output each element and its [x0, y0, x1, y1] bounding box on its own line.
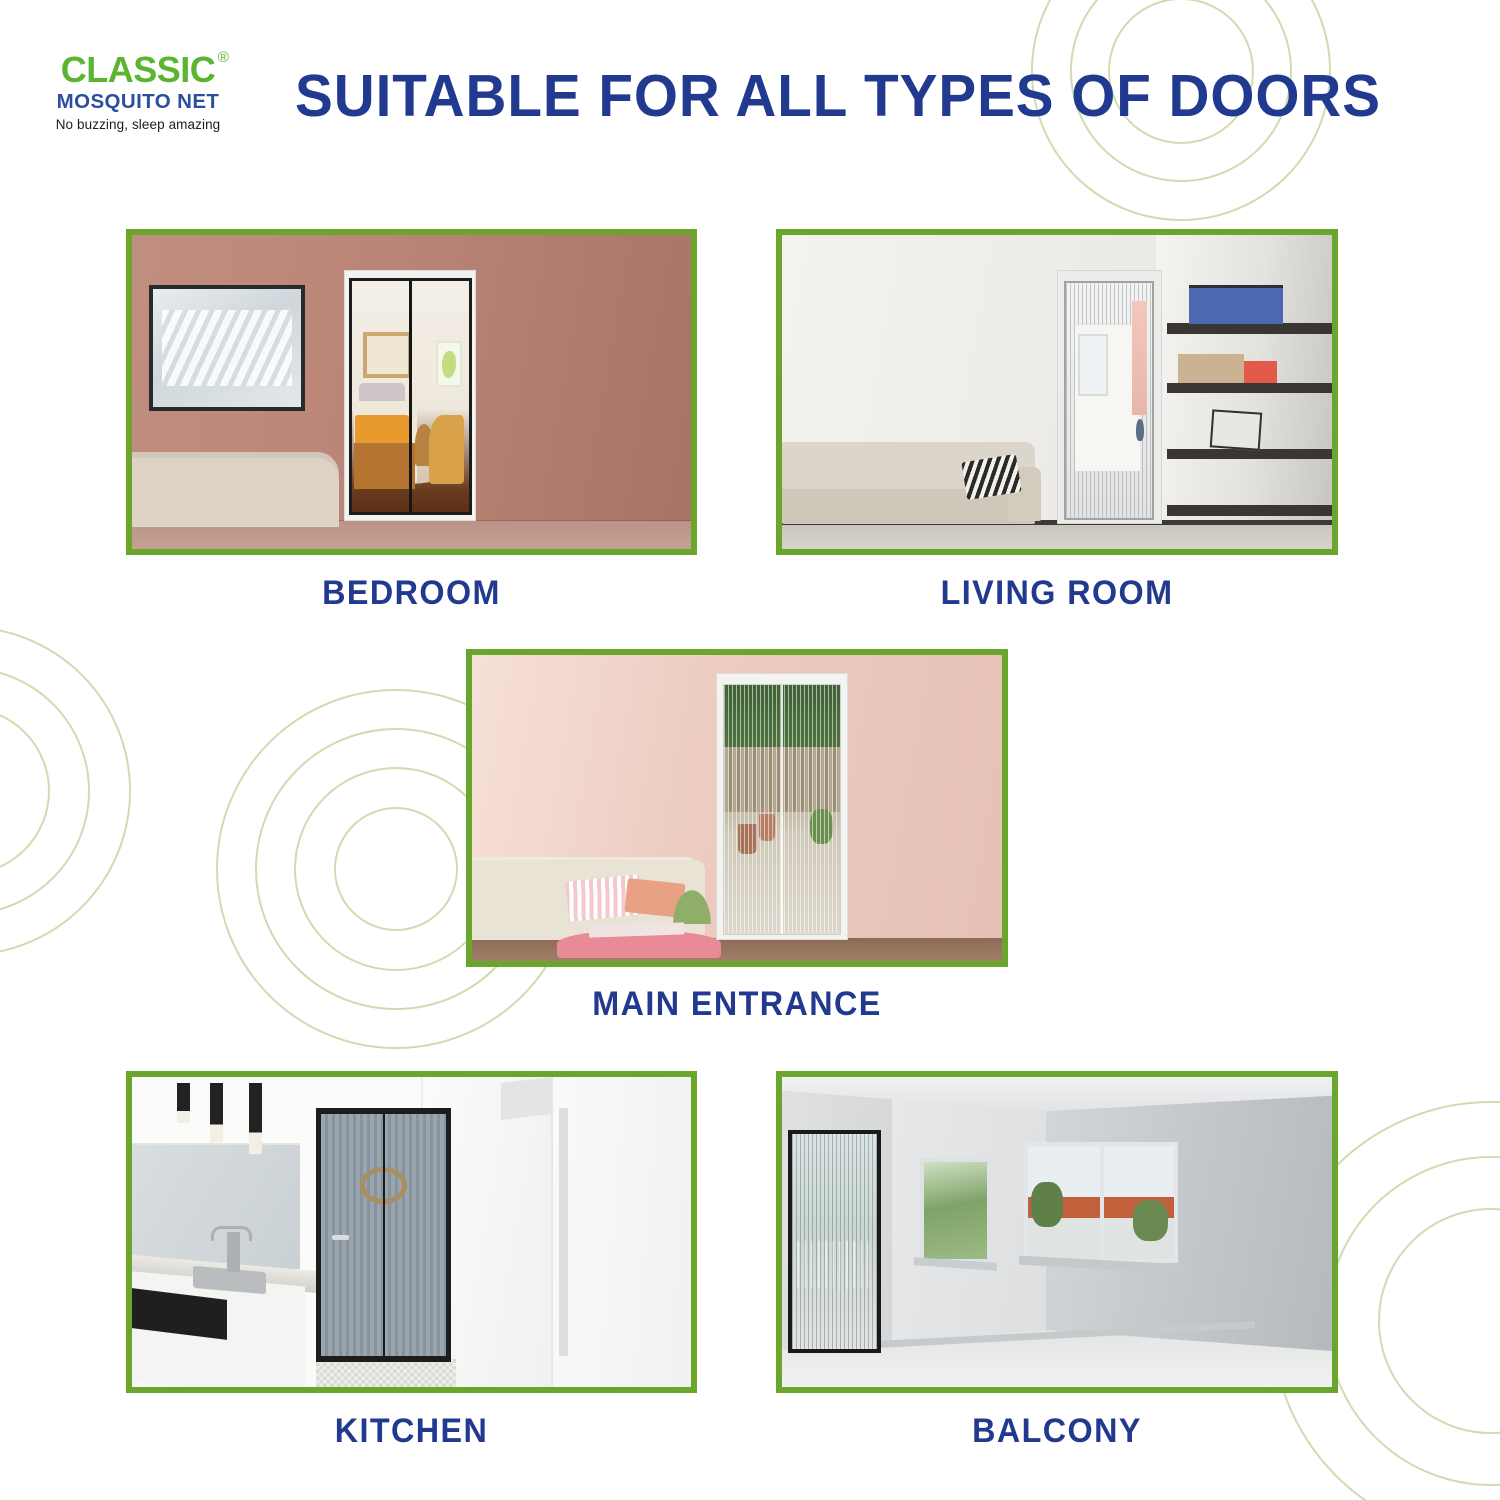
kitchen-door-frame	[316, 1108, 450, 1362]
kitchen-mesh-center-seam	[383, 1114, 385, 1355]
bedroom-bed-blanket	[354, 443, 415, 489]
bedroom-door-frame	[344, 270, 475, 521]
caption-kitchen: KITCHEN	[140, 1412, 682, 1451]
main-entrance-floor	[472, 938, 1002, 961]
bedroom-sofa	[126, 452, 339, 527]
card-balcony	[776, 1071, 1338, 1393]
header: CLASSIC ® MOSQUITO NET No buzzing, sleep…	[0, 0, 1500, 175]
kitchen-floor-tiles	[316, 1359, 456, 1387]
caption-main-entrance: MAIN ENTRANCE	[480, 985, 995, 1024]
living-room-red-book	[1244, 361, 1277, 383]
living-room-door-frame	[1057, 270, 1162, 524]
living-room-shelf-1	[1167, 323, 1332, 334]
living-room-shelf-4	[1167, 505, 1332, 516]
main-entrance-mesh-door	[723, 684, 840, 935]
kitchen-mesh-door	[321, 1114, 446, 1355]
registered-trademark-icon: ®	[218, 50, 229, 65]
kitchen-backsplash	[132, 1145, 300, 1269]
brand-tagline: No buzzing, sleep amazing	[38, 118, 238, 132]
living-room-vase	[1136, 419, 1144, 440]
living-room-adjacent-panel	[1132, 301, 1148, 414]
kitchen-pendant-light-3	[249, 1083, 262, 1154]
bedroom-mesh-door	[349, 278, 472, 515]
caption-bedroom: BEDROOM	[140, 574, 682, 613]
card-bedroom	[126, 229, 697, 555]
infographic-page: CLASSIC ® MOSQUITO NET No buzzing, sleep…	[0, 0, 1500, 1500]
photo-kitchen	[126, 1071, 697, 1393]
caption-living-room: LIVING ROOM	[790, 574, 1324, 613]
kitchen-faucet	[227, 1232, 240, 1272]
card-living-room	[776, 229, 1338, 555]
balcony-mesh-door	[788, 1130, 882, 1353]
kitchen-door-handle	[332, 1235, 348, 1240]
card-main-entrance	[466, 649, 1008, 967]
decorative-rings-bottom-right	[1490, 1320, 1491, 1321]
bedroom-mesh-center-seam	[409, 281, 412, 512]
decorative-rings-middle-left	[395, 868, 396, 869]
bedroom-chair	[429, 415, 464, 484]
photo-balcony	[776, 1071, 1338, 1393]
page-title: SUITABLE FOR ALL TYPES OF DOORS	[281, 62, 1395, 130]
kitchen-ceiling-panel	[501, 1077, 551, 1120]
living-room-blue-panel	[1189, 285, 1283, 324]
bedroom-framed-artwork	[149, 285, 306, 411]
card-kitchen	[126, 1071, 697, 1393]
living-room-floor	[782, 524, 1332, 549]
bedroom-wall-art	[436, 341, 462, 387]
brand-name-primary-text: CLASSIC	[61, 49, 216, 90]
living-room-picture-frame	[1210, 409, 1262, 450]
balcony-small-window	[920, 1158, 992, 1263]
living-room-books	[1178, 354, 1244, 382]
brand-name-primary: CLASSIC ®	[61, 52, 216, 88]
brand-name-secondary: MOSQUITO NET	[38, 92, 238, 113]
living-room-mesh-door	[1064, 281, 1154, 521]
balcony-large-window	[1024, 1142, 1178, 1263]
caption-balcony: BALCONY	[790, 1412, 1324, 1451]
photo-bedroom	[126, 229, 697, 555]
living-room-shelf-2	[1167, 383, 1332, 394]
main-entrance-plant	[668, 881, 716, 924]
living-room-adjacent-window	[1078, 334, 1107, 395]
balcony-window-tree-2	[1133, 1200, 1168, 1241]
balcony-window-mullion	[1100, 1146, 1104, 1259]
living-room-shelf-3	[1167, 449, 1332, 460]
main-entrance-door-frame	[716, 673, 849, 939]
kitchen-pendant-light-1	[177, 1083, 190, 1123]
balcony-window-tree-1	[1031, 1182, 1063, 1227]
brand-logo: CLASSIC ® MOSQUITO NET No buzzing, sleep…	[38, 52, 238, 131]
kitchen-refrigerator	[551, 1077, 691, 1387]
bedroom-artwork-canvas	[153, 289, 302, 407]
main-entrance-mesh-center-seam	[781, 685, 783, 934]
photo-main-entrance	[466, 649, 1008, 967]
balcony-railing	[797, 1241, 872, 1288]
kitchen-pendant-light-2	[210, 1083, 223, 1142]
bedroom-wall-mirror	[363, 332, 412, 378]
kitchen-fridge-handle	[559, 1108, 568, 1356]
photo-living-room	[776, 229, 1338, 555]
